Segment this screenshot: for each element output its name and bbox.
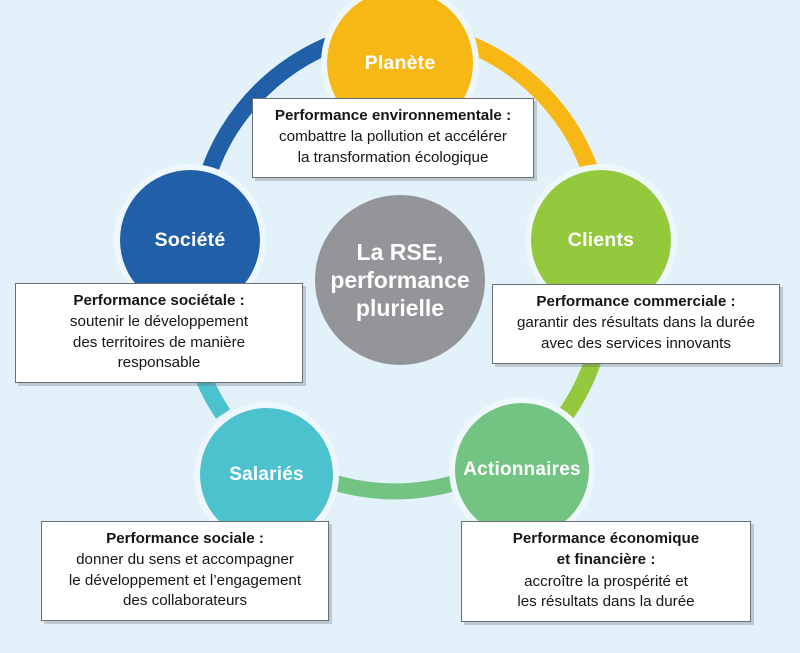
callout-soc-body-line2: des territoires de manière	[26, 333, 292, 353]
node-planete-label: Planète	[359, 52, 442, 74]
center-label-line2: performance	[330, 267, 469, 293]
center-node-rse: La RSE, performance plurielle	[315, 195, 485, 365]
callout-social-body-line3: des collaborateurs	[52, 591, 318, 611]
center-label-line1: La RSE,	[357, 239, 444, 265]
callout-performance-societale: Performance sociétale : soutenir le déve…	[15, 283, 303, 383]
center-label-line3: plurielle	[356, 295, 444, 321]
node-clients-label: Clients	[562, 229, 640, 251]
rse-diagram: La RSE, performance plurielle Planète So…	[0, 0, 800, 653]
callout-social-body-line2: le développement et l’engagement	[52, 571, 318, 591]
callout-soc-body-line3: responsable	[26, 353, 292, 373]
callout-social-title: Performance sociale :	[52, 529, 318, 549]
node-actionnaires[interactable]: Actionnaires	[455, 403, 589, 537]
callout-performance-sociale: Performance sociale : donner du sens et …	[41, 521, 329, 621]
callout-social-body-line1: donner du sens et accompagner	[52, 550, 318, 570]
node-salaries-label: Salariés	[223, 464, 310, 486]
callout-soc-body-line1: soutenir le développement	[26, 312, 292, 332]
callout-env-body-line1: combattre la pollution et accélérer	[263, 127, 523, 147]
callout-eco-body-line2: les résultats dans la durée	[472, 592, 740, 612]
callout-eco-title-line2: et financière :	[472, 550, 740, 570]
callout-performance-environnementale: Performance environnementale : combattre…	[252, 98, 534, 178]
callout-eco-title-line1: Performance économique	[472, 529, 740, 549]
callout-soc-title: Performance sociétale :	[26, 291, 292, 311]
node-actionnaires-label: Actionnaires	[457, 459, 587, 481]
callout-env-body-line2: la transformation écologique	[263, 148, 523, 168]
callout-performance-commerciale: Performance commerciale : garantir des r…	[492, 284, 780, 364]
connector-actionnaires-salaries	[329, 481, 461, 491]
callout-performance-economique-financiere: Performance économique et financière : a…	[461, 521, 751, 622]
callout-env-title: Performance environnementale :	[263, 106, 523, 126]
node-societe-label: Société	[149, 229, 232, 251]
callout-com-title: Performance commerciale :	[503, 292, 769, 312]
callout-com-body-line1: garantir des résultats dans la durée	[503, 313, 769, 333]
callout-com-body-line2: avec des services innovants	[503, 334, 769, 354]
callout-eco-body-line1: accroître la prospérité et	[472, 572, 740, 592]
